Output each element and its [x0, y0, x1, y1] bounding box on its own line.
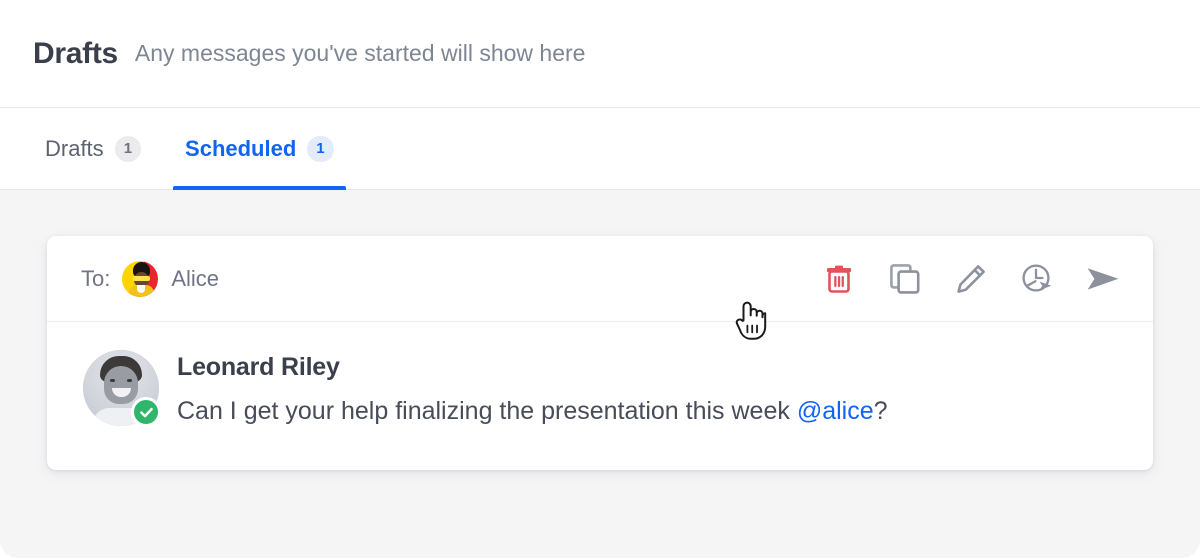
to-label: To:	[81, 266, 110, 292]
leonard-avatar-wrap	[83, 350, 159, 426]
tab-drafts[interactable]: Drafts 1	[33, 108, 153, 189]
recipient-name: Alice	[171, 266, 219, 292]
page-title: Drafts	[33, 37, 118, 71]
drafts-window: Drafts Any messages you've started will …	[0, 0, 1200, 558]
message-text-after-mention: ?	[874, 397, 888, 425]
page-header: Drafts Any messages you've started will …	[0, 0, 1200, 108]
tab-bar: Drafts 1 Scheduled 1	[0, 108, 1200, 190]
scheduled-list-area: To: Alice	[0, 190, 1200, 558]
tab-drafts-badge: 1	[115, 136, 141, 162]
tab-scheduled-badge: 1	[307, 136, 333, 162]
tab-scheduled[interactable]: Scheduled 1	[173, 108, 346, 189]
duplicate-icon[interactable]	[888, 262, 922, 296]
page-subtitle: Any messages you've started will show he…	[135, 40, 586, 67]
message-text: Can I get your help finalizing the prese…	[177, 396, 888, 426]
sender-name: Leonard Riley	[177, 353, 888, 382]
tab-scheduled-label: Scheduled	[185, 136, 296, 162]
tab-drafts-label: Drafts	[45, 136, 104, 162]
card-body: Leonard Riley Can I get your help finali…	[47, 322, 1153, 470]
card-action-buttons	[822, 262, 1120, 296]
mention-link-alice[interactable]: @alice	[797, 397, 874, 425]
scheduled-message-card[interactable]: To: Alice	[47, 236, 1153, 470]
message-text-before-mention: Can I get your help finalizing the prese…	[177, 397, 797, 425]
edit-pencil-icon[interactable]	[954, 262, 988, 296]
message-column: Leonard Riley Can I get your help finali…	[177, 350, 888, 426]
reschedule-clock-icon[interactable]	[1020, 262, 1054, 296]
card-header: To: Alice	[47, 236, 1153, 322]
check-circle-icon	[131, 397, 161, 427]
delete-icon[interactable]	[822, 262, 856, 296]
alice-avatar	[122, 261, 158, 297]
send-icon[interactable]	[1086, 262, 1120, 296]
